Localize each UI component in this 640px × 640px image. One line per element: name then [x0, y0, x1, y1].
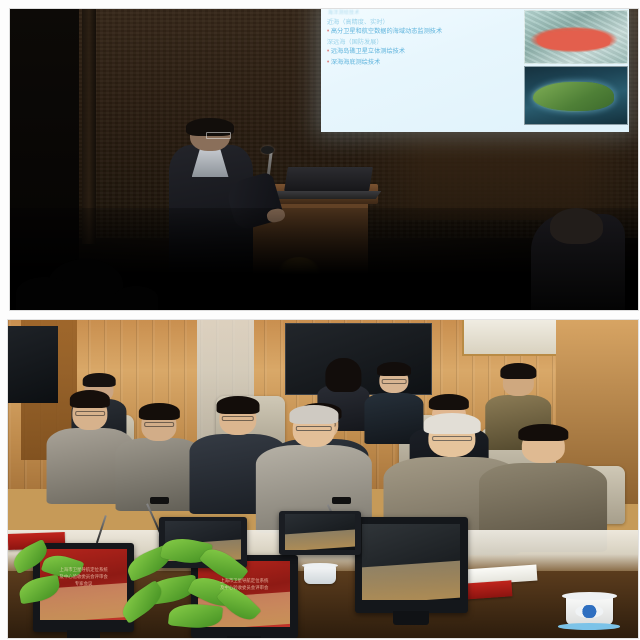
audience-head-right [550, 208, 603, 244]
monitor-back-screen [285, 514, 355, 550]
attendee-hair [83, 373, 116, 387]
audience-silhouette [114, 286, 158, 310]
desk-microphone [150, 497, 169, 505]
cup-coaster [558, 623, 620, 630]
monitor-stand [393, 611, 429, 625]
satellite-coastal-image [524, 10, 628, 64]
plant-leaf [168, 601, 223, 630]
attendee-glasses-icon [222, 416, 254, 421]
monitor-back[interactable] [279, 511, 361, 556]
attendee-hair [70, 390, 110, 408]
laptop [284, 167, 373, 191]
monitor-center-text: 上海市卫星导航定位系统 及中心验收委员会评审会 [197, 577, 291, 592]
microphone-icon [261, 146, 274, 154]
monitor-stand [227, 636, 261, 638]
attendee-hair [429, 394, 469, 410]
monitor-stand [67, 630, 99, 638]
monitor-far-right[interactable] [355, 517, 468, 612]
cup-logo-icon [575, 605, 602, 618]
attendee-front-1 [58, 390, 121, 504]
attendee-hair [216, 396, 259, 414]
attendee-hair [377, 362, 411, 377]
attendee-hair [326, 358, 361, 392]
cup-lid [562, 592, 617, 600]
projection-screen: 海洋测绘技术 近海（高精度、实时） 高分卫星和航空数据的海域动态监测技术 深远海… [321, 9, 629, 132]
attendee-hair [139, 403, 179, 420]
attendee-glasses-icon [432, 436, 472, 441]
desk-microphone [332, 497, 351, 505]
attendee-hair [519, 424, 568, 442]
slide-figures [524, 10, 626, 124]
attendee-glasses-icon [382, 379, 407, 384]
photo-collage: 海洋测绘技术 近海（高精度、实时） 高分卫星和航空数据的海域动态监测技术 深远海… [0, 0, 640, 640]
attendee-hair [501, 363, 536, 379]
water-cup [304, 565, 336, 584]
attendee-glasses-icon [295, 426, 331, 431]
audience-silhouette [16, 277, 73, 310]
conference-room-photo: 上海市卫星导航定位系统 及中心验收委员会评审会 专家会议 上海市卫星导航定位系统… [8, 320, 638, 638]
cup-lid [302, 563, 339, 568]
attendee-glasses-icon [75, 411, 105, 416]
monitor-far-right-screen [362, 524, 460, 600]
attendee-hair-grey [424, 413, 481, 434]
attendee-glasses-icon [144, 422, 174, 427]
water-cup-logo [566, 595, 613, 625]
attendee-front-2 [128, 403, 191, 511]
attendee-hair-grey [289, 405, 338, 424]
wall-display-left [8, 326, 58, 402]
lecture-hall-photo: 海洋测绘技术 近海（高精度、实时） 高分卫星和航空数据的海域动态监测技术 深远海… [10, 9, 638, 310]
monitor-left-text: 上海市卫星导航定位系统 及中心验收委员会评审会 专家会议 [39, 566, 128, 588]
speaker-glasses-icon [206, 132, 231, 139]
island-aerial-image [524, 66, 628, 125]
